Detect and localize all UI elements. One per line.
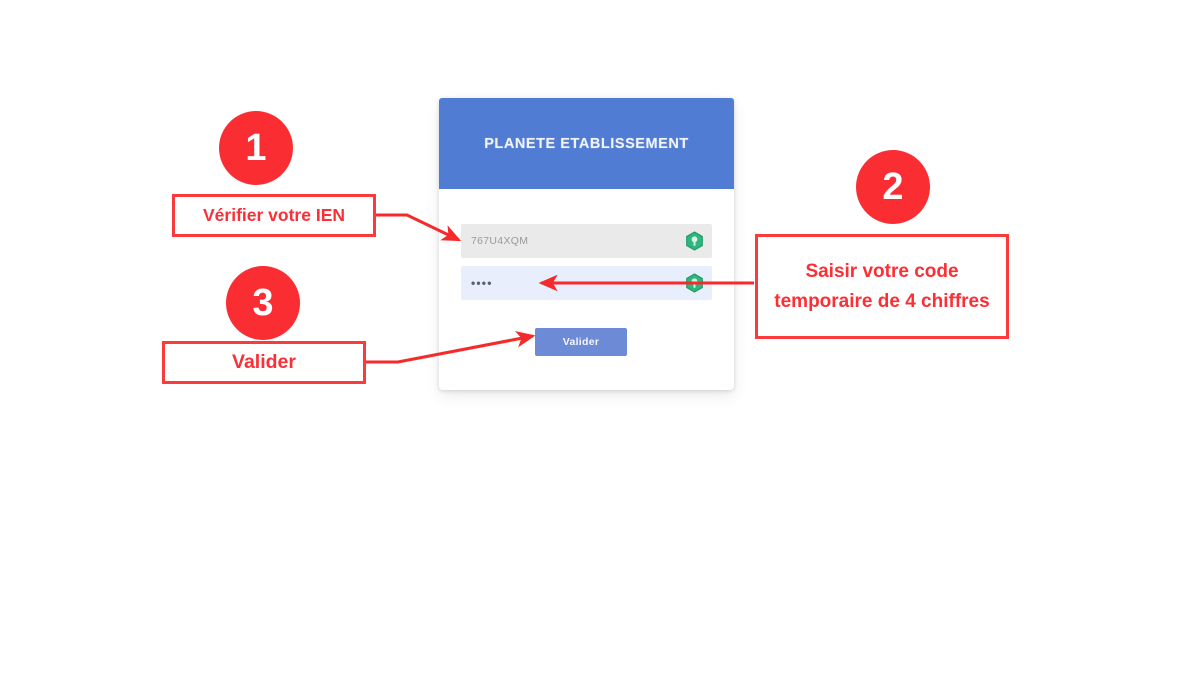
screenshot-canvas: PLANETE ETABLISSEMENT 767U4XQM •••• — [0, 0, 1200, 675]
validate-button[interactable]: Valider — [535, 328, 627, 356]
ien-input[interactable]: 767U4XQM — [461, 224, 712, 258]
callout-number-2: 2 — [856, 150, 930, 224]
key-hexagon-icon — [685, 273, 704, 293]
callout-number-1: 1 — [219, 111, 293, 185]
key-hexagon-icon — [685, 231, 704, 251]
callout-label-3: Valider — [162, 341, 366, 384]
callout-number-3: 3 — [226, 266, 300, 340]
callout-label-2: Saisir votre code temporaire de 4 chiffr… — [755, 234, 1009, 339]
ien-input-value: 767U4XQM — [471, 235, 685, 247]
code-input[interactable]: •••• — [461, 266, 712, 300]
code-input-value: •••• — [471, 276, 685, 290]
login-card: PLANETE ETABLISSEMENT 767U4XQM •••• — [439, 98, 734, 390]
card-header: PLANETE ETABLISSEMENT — [439, 98, 734, 189]
callout-label-1: Vérifier votre IEN — [172, 194, 376, 237]
page-title: PLANETE ETABLISSEMENT — [484, 136, 689, 152]
